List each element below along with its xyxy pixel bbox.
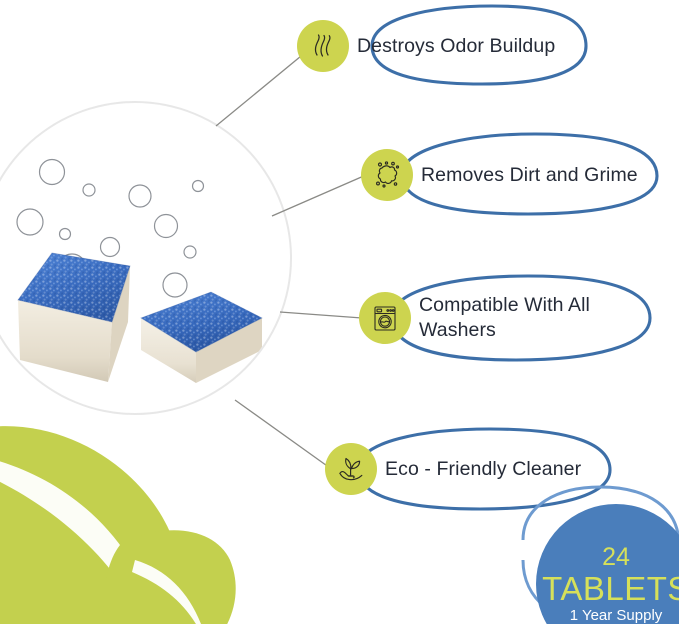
- badge-count: 24: [602, 545, 630, 570]
- feature-label: Eco - Friendly Cleaner: [385, 457, 581, 482]
- feature-label: Compatible With All Washers: [419, 293, 590, 342]
- odor-waves-icon: [297, 20, 349, 72]
- feature-compatible-washers: Compatible With All Washers: [359, 292, 590, 344]
- feature-eco-friendly: Eco - Friendly Cleaner: [325, 443, 581, 495]
- badge-unit: TABLETS: [542, 572, 679, 605]
- product-infographic: Destroys Odor Buildup Removes Dirt and G…: [0, 0, 679, 624]
- feature-destroys-odor: Destroys Odor Buildup: [297, 20, 555, 72]
- badge-subtitle: 1 Year Supply: [570, 608, 663, 623]
- feature-outline-ellipses: [358, 6, 657, 509]
- hand-holding-leaf-icon: [325, 443, 377, 495]
- feature-removes-dirt: Removes Dirt and Grime: [361, 149, 638, 201]
- feature-label: Removes Dirt and Grime: [421, 163, 638, 188]
- washing-machine-icon: [359, 292, 411, 344]
- feature-label: Destroys Odor Buildup: [357, 34, 555, 59]
- stain-splat-icon: [361, 149, 413, 201]
